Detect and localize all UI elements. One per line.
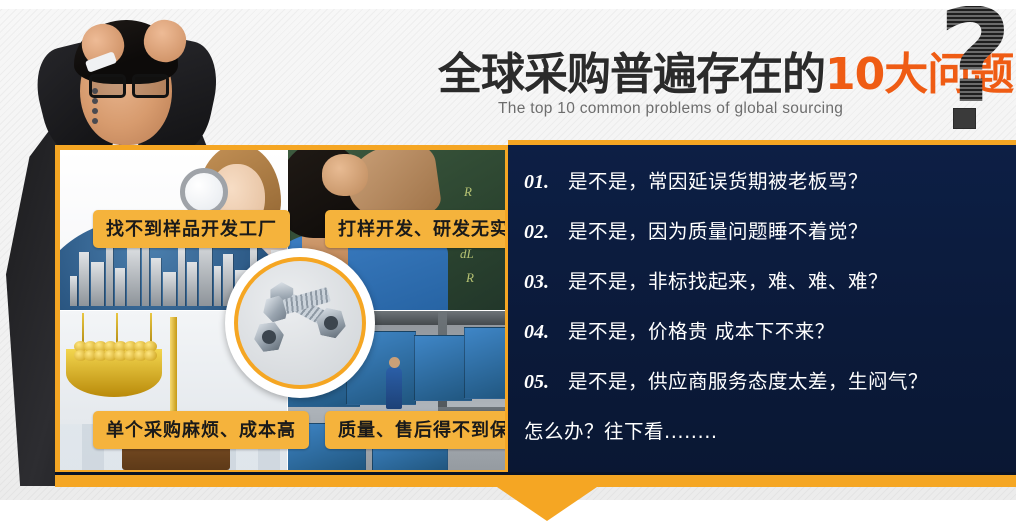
photo-collage: X - 1 R dL R y = 2x P F: [55, 145, 510, 475]
problem-text: 是不是，价格贵 成本下不来？: [568, 315, 835, 344]
problem-number: 01.: [524, 171, 568, 194]
factory-worker-shape: [386, 367, 402, 409]
bolts-circle-badge: [225, 248, 375, 398]
page-subtitle: The top 10 common problems of global sou…: [498, 100, 978, 118]
problem-number: 04.: [524, 321, 568, 344]
equation-text-2: R: [464, 184, 472, 200]
page-title: 全球采购普遍存在的10大问题: [438, 48, 958, 104]
problem-text: 是不是，常因延误货期被老板骂？: [568, 165, 868, 194]
equation-text-4: R: [466, 270, 474, 286]
caption-chip-sample-factory: 找不到样品开发工厂: [93, 210, 290, 248]
caption-chip-rnd: 打样开发、研发无实力: [325, 210, 510, 248]
problem-row: 02.是不是，因为质量问题睡不着觉？: [524, 215, 1006, 244]
bolts-circle-ring: [234, 257, 366, 389]
problem-number: 03.: [524, 271, 568, 294]
magnifier-icon: [180, 168, 228, 216]
problem-row: 04.是不是，价格贵 成本下不来？: [524, 315, 1006, 344]
equation-text-3: dL: [460, 246, 474, 262]
problem-text: 是不是，供应商服务态度太差，生闷气？: [568, 365, 928, 394]
caption-chip-quality: 质量、售后得不到保障: [325, 411, 510, 449]
problems-footer: 怎么办？往下看........: [524, 415, 1006, 444]
caption-chip-cost: 单个采购麻烦、成本高: [93, 411, 309, 449]
question-mark-dot-icon: [953, 108, 976, 129]
problems-panel: 01.是不是，常因延误货期被老板骂？02.是不是，因为质量问题睡不着觉？03.是…: [508, 145, 1016, 475]
problem-number: 05.: [524, 371, 568, 394]
problem-row: 03.是不是，非标找起来，难、难、难？: [524, 265, 1006, 294]
problem-row: 05.是不是，供应商服务态度太差，生闷气？: [524, 365, 1006, 394]
background-bottom-band: [0, 500, 1016, 531]
sleeve-buttons: [92, 88, 100, 124]
machine-4: [464, 327, 505, 399]
scale-post-shape: [170, 317, 177, 425]
problem-row: 01.是不是，常因延误货期被老板骂？: [524, 165, 1006, 194]
problem-text: 是不是，非标找起来，难、难、难？: [568, 265, 888, 294]
problems-list: 01.是不是，常因延误货期被老板骂？02.是不是，因为质量问题睡不着觉？03.是…: [524, 165, 1006, 444]
title-black-part: 全球采购普遍存在的: [438, 49, 825, 100]
glasses-icon: [88, 74, 168, 92]
problem-text: 是不是，因为质量问题睡不着觉？: [568, 215, 868, 244]
banner-stage: 全球采购普遍存在的10大问题 The top 10 common problem…: [0, 0, 1016, 531]
gold-nuggets-shape: [74, 341, 156, 363]
bottom-accent-bar: [55, 475, 1016, 487]
question-mark-icon: ?: [938, 6, 1016, 111]
problem-number: 02.: [524, 221, 568, 244]
student-hand-shape: [322, 154, 368, 196]
nut-1: [252, 321, 286, 353]
